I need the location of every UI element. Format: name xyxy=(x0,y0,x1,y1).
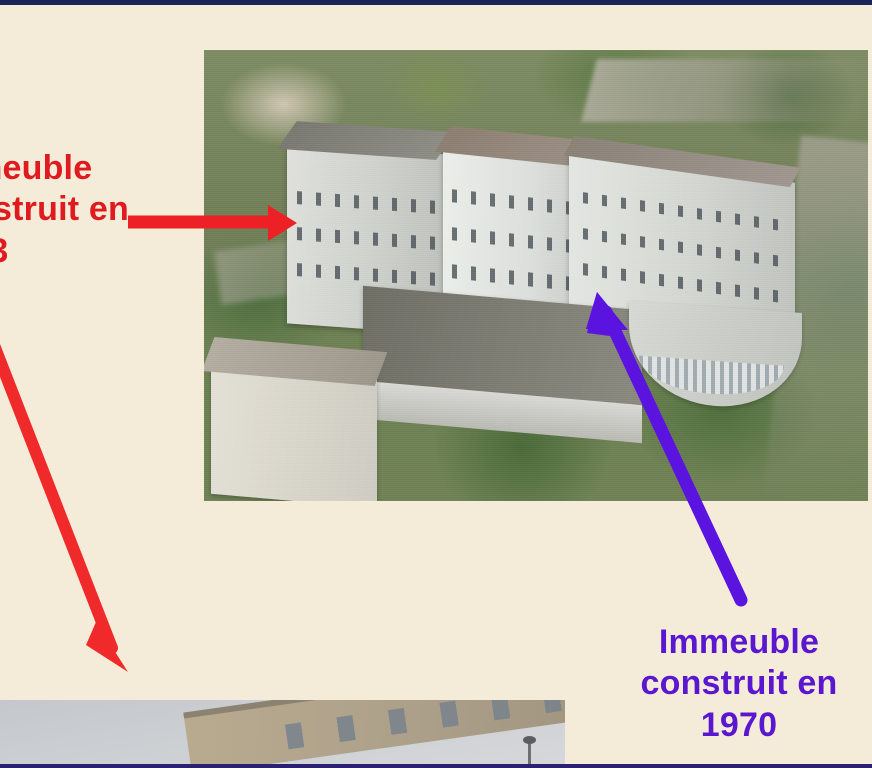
window-row xyxy=(452,227,581,254)
window-row xyxy=(297,191,437,213)
window-row xyxy=(452,189,581,216)
red-diagonal-arrow xyxy=(0,340,128,672)
small-house xyxy=(211,358,377,501)
road-top xyxy=(581,59,868,122)
window-row xyxy=(583,264,782,303)
bottom-chrome-bar xyxy=(0,764,872,768)
aerial-photo xyxy=(204,50,868,501)
window-row xyxy=(297,227,437,249)
window-row xyxy=(452,264,581,291)
window-row xyxy=(297,263,437,285)
top-chrome-bar xyxy=(0,0,872,5)
red-annotation-label: Immeuble construit en 1893 xyxy=(0,148,132,272)
facade-photo xyxy=(0,700,565,768)
purple-annotation-label: Immeuble construit en 1970 xyxy=(596,622,872,746)
slide-canvas: Immeuble construit en 1893 Immeuble cons… xyxy=(0,0,872,768)
window-row xyxy=(583,228,782,267)
window-row xyxy=(583,192,782,231)
